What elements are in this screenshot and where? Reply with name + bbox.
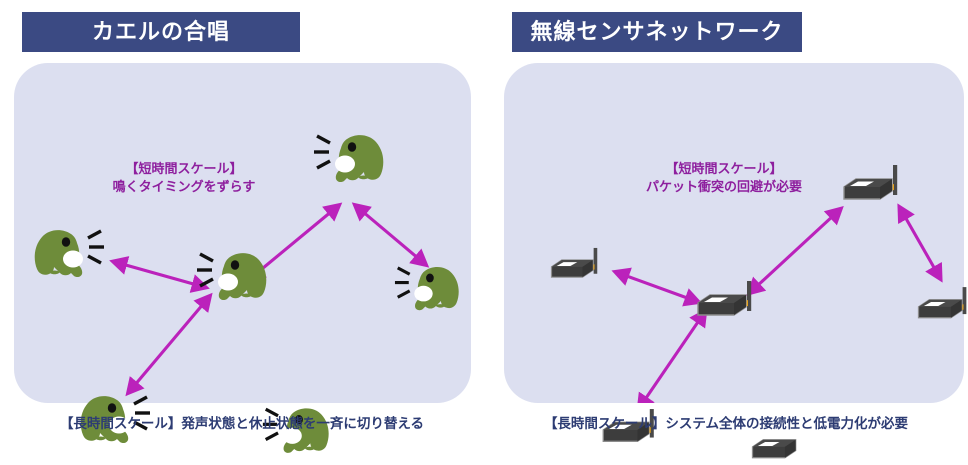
link-center-topright xyxy=(756,215,834,287)
link-topright-farright xyxy=(904,215,936,271)
left-caption: 【長時間スケール】発声状態と休止状態を一斉に切り替える xyxy=(0,412,484,432)
left-title-text: カエルの合唱 xyxy=(92,21,230,43)
link-center-bottomleft xyxy=(644,319,700,401)
link-left-center xyxy=(122,264,197,285)
node-far-right xyxy=(911,287,968,325)
right-title-band: 無線センサネットワーク xyxy=(512,12,802,52)
panel-wireless-sensor-network: 無線センサネットワーク 【短時間スケール】 パケット衝突の回避が必要 xyxy=(484,0,968,451)
node-center xyxy=(690,281,756,323)
figure-root: カエルの合唱 【短時間スケール】 鳴くタイミングをずらす xyxy=(0,0,968,451)
node-top-right xyxy=(836,165,902,207)
right-diagram-panel: 【短時間スケール】 パケット衝突の回避が必要 xyxy=(504,63,964,403)
link-top-right xyxy=(362,211,419,259)
frog-center xyxy=(197,249,271,305)
right-links-layer xyxy=(504,63,964,403)
right-title-text: 無線センサネットワーク xyxy=(530,21,783,43)
link-center-bottomleft xyxy=(134,303,204,386)
node-left xyxy=(545,248,602,284)
node-bottom-center xyxy=(745,427,804,465)
frog-left xyxy=(30,226,104,282)
link-left-center xyxy=(624,275,690,299)
frog-right xyxy=(395,263,463,315)
right-caption: 【長時間スケール】システム全体の接続性と低電力化が必要 xyxy=(484,412,968,432)
left-title-band: カエルの合唱 xyxy=(22,12,300,52)
left-diagram-panel: 【短時間スケール】 鳴くタイミングをずらす xyxy=(14,63,471,403)
frog-top xyxy=(314,131,388,187)
panel-frog-chorus: カエルの合唱 【短時間スケール】 鳴くタイミングをずらす xyxy=(0,0,484,451)
